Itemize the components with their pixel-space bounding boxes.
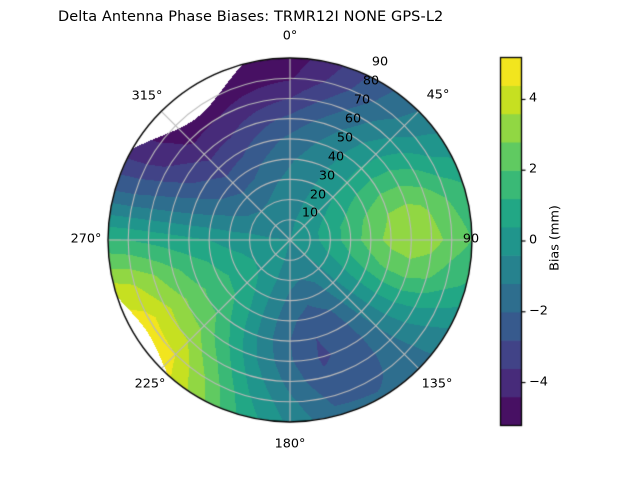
radial-label-50: 50 bbox=[337, 133, 353, 146]
colorbar-axis-label: Bias (mm) bbox=[550, 205, 563, 271]
azimuth-label-315: 315° bbox=[132, 91, 163, 104]
colorbar-tick-0: 0 bbox=[529, 235, 537, 248]
radial-label-10: 10 bbox=[302, 208, 318, 221]
azimuth-label-45: 45° bbox=[427, 90, 450, 103]
radial-label-60: 60 bbox=[345, 114, 361, 127]
radial-label-90: 90 bbox=[372, 57, 388, 70]
radial-label-20: 20 bbox=[310, 190, 326, 203]
colorbar-tick--4: −4 bbox=[529, 376, 548, 389]
page-title: Delta Antenna Phase Biases: TRMR12I NONE… bbox=[58, 10, 443, 25]
radial-label-80: 80 bbox=[363, 76, 379, 89]
colorbar-tick-2: 2 bbox=[529, 164, 537, 177]
azimuth-label-0: 0° bbox=[283, 31, 298, 44]
colorbar-tick-4: 4 bbox=[529, 93, 537, 106]
radial-label-40: 40 bbox=[328, 152, 344, 165]
azimuth-label-225: 225° bbox=[135, 379, 166, 392]
radial-label-70: 70 bbox=[354, 95, 370, 108]
azimuth-label-90: 90 bbox=[463, 234, 479, 247]
figure-canvas-container: Delta Antenna Phase Biases: TRMR12I NONE… bbox=[0, 0, 640, 480]
azimuth-label-270: 270° bbox=[71, 234, 102, 247]
azimuth-label-180: 180° bbox=[275, 439, 306, 452]
colorbar-tick--2: −2 bbox=[529, 305, 548, 318]
azimuth-label-135: 135° bbox=[422, 379, 453, 392]
radial-label-30: 30 bbox=[319, 171, 335, 184]
